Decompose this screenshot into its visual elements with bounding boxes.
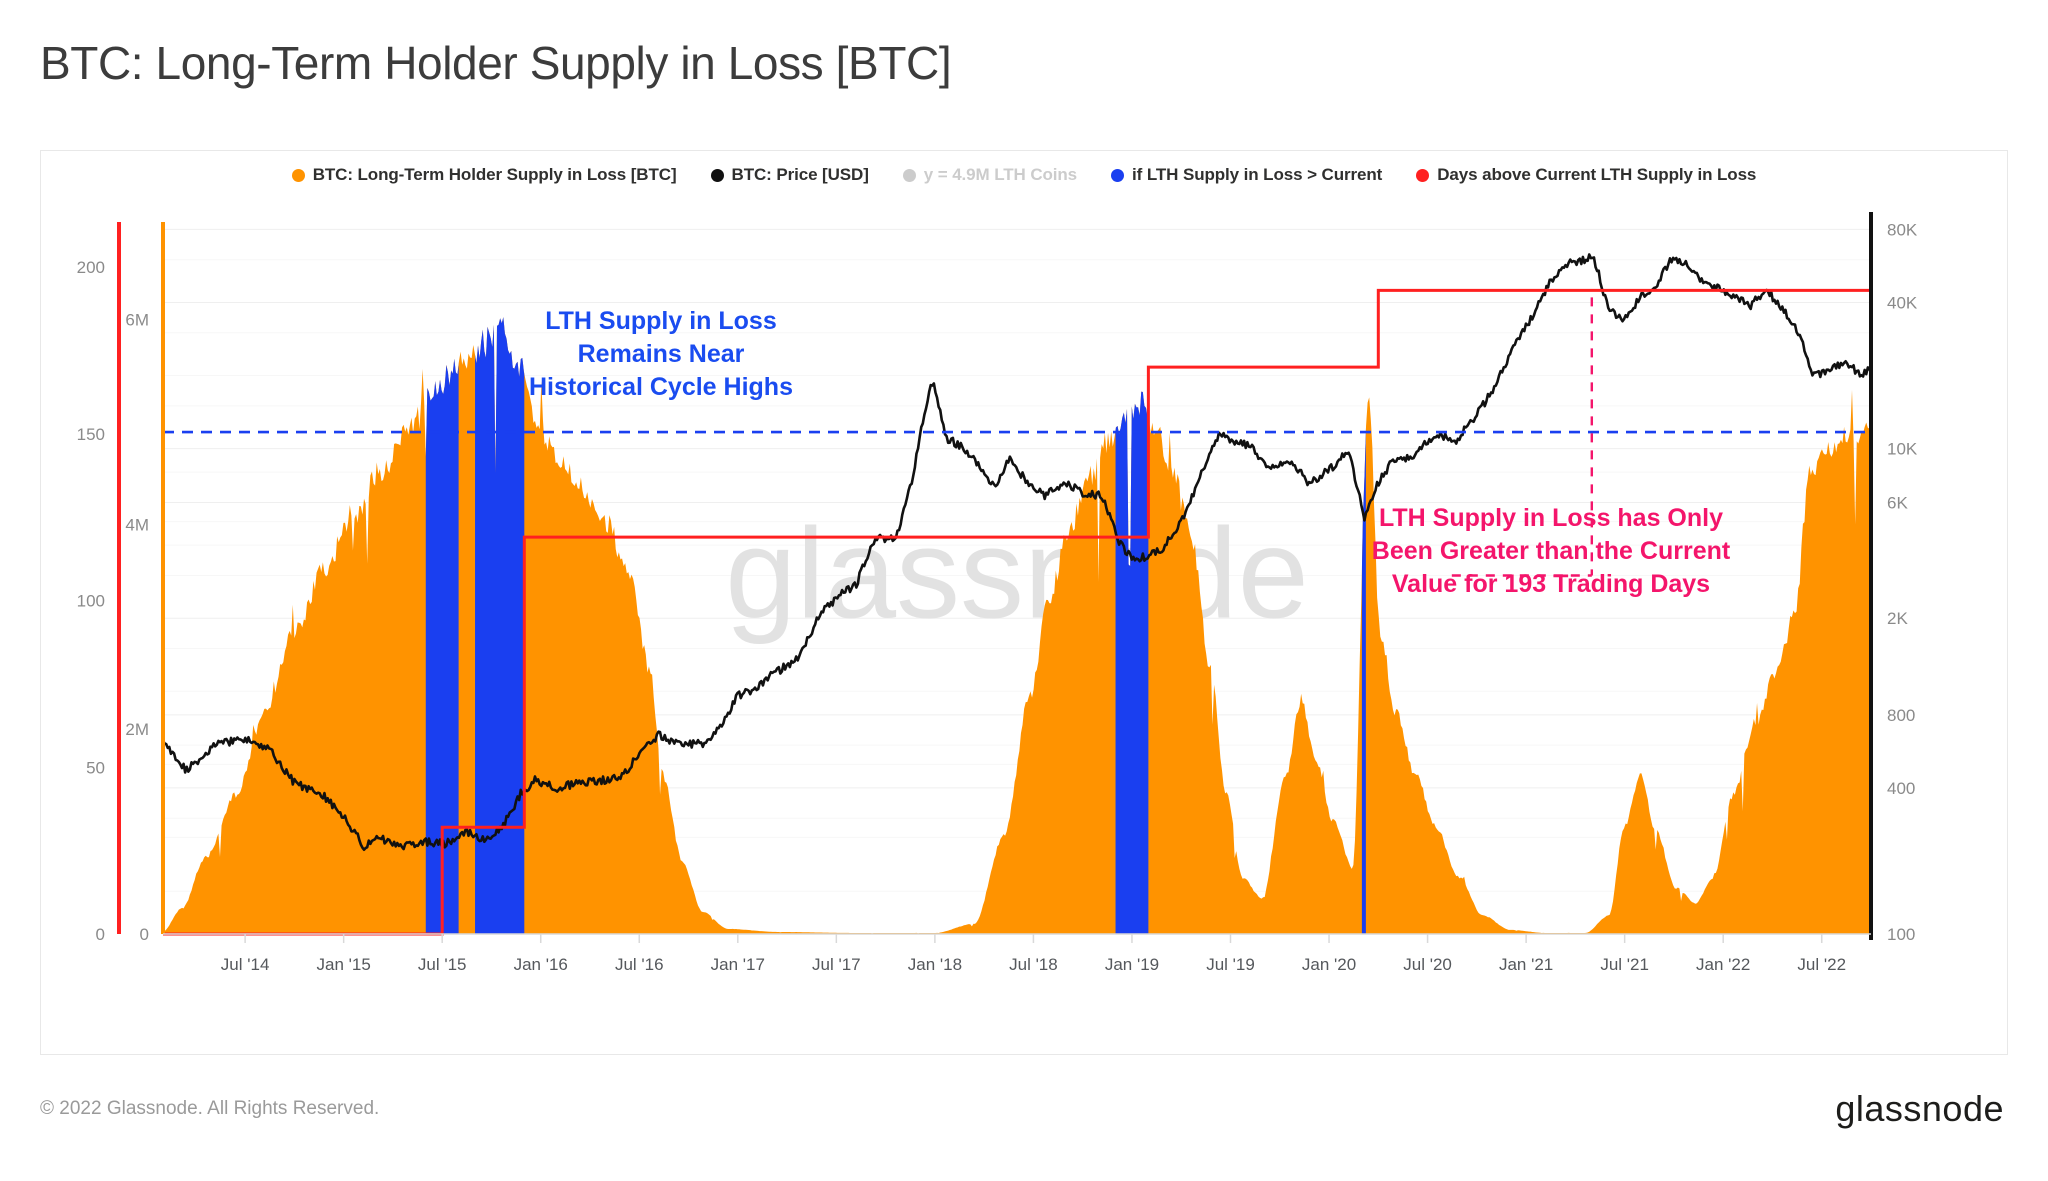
legend-item-4[interactable]: Days above Current LTH Supply in Loss	[1416, 165, 1756, 185]
axis-days-tick-label: 150	[77, 425, 105, 444]
axis-x-tick-label: Jul '19	[1206, 955, 1255, 974]
axis-supply-tick-label: 4M	[125, 515, 149, 534]
axis-price-tick-label: 800	[1887, 706, 1915, 725]
legend-label: BTC: Long-Term Holder Supply in Loss [BT…	[313, 165, 677, 185]
axis-x-tick-label: Jul '15	[418, 955, 467, 974]
axis-x-tick-label: Jan '20	[1302, 955, 1356, 974]
legend-label: y = 4.9M LTH Coins	[924, 165, 1077, 185]
axis-price-tick-label: 10K	[1887, 440, 1918, 459]
highlight-band-2	[1116, 217, 1149, 934]
axis-x-tick-label: Jan '18	[908, 955, 962, 974]
axis-days-tick-label: 200	[77, 258, 105, 277]
annotation-line: Historical Cycle Highs	[529, 373, 793, 401]
axis-x-tick-label: Jan '15	[317, 955, 371, 974]
annotation-line: LTH Supply in Loss	[545, 307, 776, 335]
page-title: BTC: Long-Term Holder Supply in Loss [BT…	[40, 36, 951, 90]
axis-x-tick-label: Jul '16	[615, 955, 664, 974]
axis-price-tick-label: 6K	[1887, 493, 1908, 512]
legend-label: if LTH Supply in Loss > Current	[1132, 165, 1382, 185]
footer-copyright: © 2022 Glassnode. All Rights Reserved.	[40, 1098, 379, 1120]
chart-svg[interactable]: glassnode05010015020002M4M6M1004008002K6…	[41, 199, 2007, 1011]
brand-logo: glassnode	[1835, 1088, 2004, 1130]
plot-area: glassnode05010015020002M4M6M1004008002K6…	[41, 199, 2007, 1011]
axis-x-tick-label: Jul '18	[1009, 955, 1058, 974]
legend-swatch-icon	[1111, 169, 1124, 182]
legend-item-2[interactable]: y = 4.9M LTH Coins	[903, 165, 1077, 185]
axis-supply-tick-label: 6M	[125, 310, 149, 329]
highlight-band-3	[1362, 217, 1366, 934]
axis-x-tick-label: Jul '21	[1600, 955, 1649, 974]
annotation-lth-near-highs: LTH Supply in LossRemains NearHistorical…	[529, 307, 793, 401]
watermark: glassnode	[725, 503, 1309, 646]
axis-x-tick-label: Jul '17	[812, 955, 861, 974]
annotation-line: Remains Near	[578, 340, 745, 368]
axis-price-tick-label: 400	[1887, 779, 1915, 798]
axis-days-tick-label: 100	[77, 592, 105, 611]
axis-x-tick-label: Jan '17	[711, 955, 765, 974]
annotation-line: Value for 193 Trading Days	[1392, 570, 1710, 598]
axis-x-tick-label: Jan '21	[1499, 955, 1553, 974]
axis-price-tick-label: 2K	[1887, 609, 1908, 628]
axis-x-tick-label: Jul '22	[1797, 955, 1846, 974]
chart-page: BTC: Long-Term Holder Supply in Loss [BT…	[0, 0, 2048, 1181]
legend-swatch-icon	[292, 169, 305, 182]
legend-label: BTC: Price [USD]	[732, 165, 869, 185]
axis-price-tick-label: 80K	[1887, 220, 1918, 239]
annotation-line: Been Greater than the Current	[1372, 537, 1731, 565]
axis-price-tick-label: 40K	[1887, 293, 1918, 312]
legend-item-1[interactable]: BTC: Price [USD]	[711, 165, 869, 185]
axis-x-tick-label: Jan '22	[1696, 955, 1750, 974]
axis-x-tick-label: Jul '14	[221, 955, 270, 974]
axis-x-tick-label: Jan '16	[514, 955, 568, 974]
legend-swatch-icon	[903, 169, 916, 182]
legend-swatch-icon	[711, 169, 724, 182]
axis-supply-tick-label: 2M	[125, 720, 149, 739]
chart-card: BTC: Long-Term Holder Supply in Loss [BT…	[40, 150, 2008, 1055]
legend-swatch-icon	[1416, 169, 1429, 182]
axis-days-tick-label: 50	[86, 758, 105, 777]
axis-x-tick-label: Jan '19	[1105, 955, 1159, 974]
axis-supply-tick-label: 0	[140, 925, 149, 944]
axis-x-tick-label: Jul '20	[1403, 955, 1452, 974]
legend-label: Days above Current LTH Supply in Loss	[1437, 165, 1756, 185]
axis-price-tick-label: 100	[1887, 925, 1915, 944]
annotation-193-trading-days: LTH Supply in Loss has OnlyBeen Greater …	[1372, 504, 1731, 598]
chart-legend: BTC: Long-Term Holder Supply in Loss [BT…	[41, 165, 2007, 185]
legend-item-3[interactable]: if LTH Supply in Loss > Current	[1111, 165, 1382, 185]
legend-item-0[interactable]: BTC: Long-Term Holder Supply in Loss [BT…	[292, 165, 677, 185]
annotation-line: LTH Supply in Loss has Only	[1379, 504, 1723, 532]
axis-days-tick-label: 0	[96, 925, 105, 944]
